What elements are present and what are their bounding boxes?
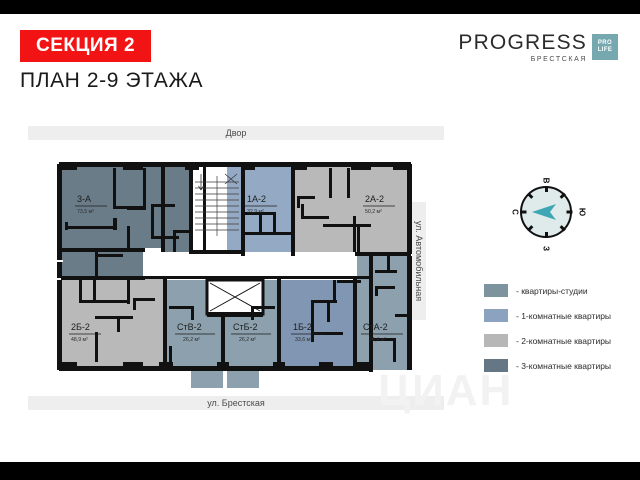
compass-needle-icon <box>520 186 572 238</box>
unit-area-2b2: 48,9 м² <box>71 337 88 343</box>
legend-label: - квартиры-студии <box>516 286 588 296</box>
balcony-stv2 <box>191 370 223 388</box>
floor-plan-svg: 3-А 73,5 м² 1А-2 32,9 м² 2А-2 50,2 м² 2Б… <box>55 160 415 392</box>
unit-fill-2a2 <box>295 166 409 252</box>
legend-item-studio: - квартиры-студии <box>484 284 634 297</box>
unit-area-sta2: 24,4 м² <box>369 337 386 343</box>
unit-fill-sta2 <box>357 256 409 370</box>
page-title: ПЛАН 2-9 ЭТАЖА <box>20 70 203 91</box>
street-label-brestskaya: ул. Брестская <box>28 396 444 410</box>
unit-area-stv2: 26,2 м² <box>183 337 200 343</box>
logo-wordmark: PROGRESS <box>458 32 587 53</box>
legend: - квартиры-студии - 1-комнатные квартиры… <box>484 284 634 384</box>
unit-label-3a: 3-А <box>77 194 91 204</box>
section-badge: СЕКЦИЯ 2 <box>20 30 151 62</box>
unit-label-sta2: СтА-2 <box>363 322 388 332</box>
pro-life-badge-line2: LIFE <box>598 47 613 54</box>
unit-label-1b2: 1Б-2 <box>293 322 312 332</box>
logo-text: PROGRESS БРЕСТСКАЯ <box>458 32 587 63</box>
unit-area-1a2: 32,9 м² <box>247 209 264 215</box>
legend-label: - 3-комнатные квартиры <box>516 361 611 371</box>
compass-label-north: В <box>542 178 551 184</box>
brand-logo: PROGRESS БРЕСТСКАЯ PRO LIFE <box>458 32 618 63</box>
balcony-stb2 <box>227 370 259 388</box>
unit-label-2b2: 2Б-2 <box>71 322 90 332</box>
street-label-avtomobilnaya-text: ул. Автомобильная <box>414 221 424 301</box>
legend-swatch <box>484 359 508 372</box>
compass-label-east: Ю <box>578 208 587 216</box>
legend-label: - 2-комнатные квартиры <box>516 336 611 346</box>
pro-life-badge-line1: PRO <box>598 40 612 47</box>
elevator-shaft <box>207 280 263 317</box>
legend-label: - 1-комнатные квартиры <box>516 311 611 321</box>
legend-swatch <box>484 334 508 347</box>
logo-subtitle: БРЕСТСКАЯ <box>531 56 587 63</box>
unit-area-3a: 73,5 м² <box>77 209 94 215</box>
floor-plan-drawing: 3-А 73,5 м² 1А-2 32,9 м² 2А-2 50,2 м² 2Б… <box>55 160 415 392</box>
corridor <box>143 252 369 278</box>
unit-label-stv2: СтВ-2 <box>177 322 202 332</box>
legend-swatch <box>484 309 508 322</box>
unit-area-2a2: 50,2 м² <box>365 209 382 215</box>
pro-life-badge: PRO LIFE <box>592 34 618 60</box>
unit-area-stb2: 26,2 м² <box>239 337 256 343</box>
legend-item-one-room: - 1-комнатные квартиры <box>484 309 634 322</box>
compass-rose: В Ю З С <box>520 186 572 238</box>
unit-label-2a2: 2А-2 <box>365 194 384 204</box>
floorplan-sheet: СЕКЦИЯ 2 ПЛАН 2-9 ЭТАЖА PROGRESS БРЕСТСК… <box>0 14 640 462</box>
legend-item-two-room: - 2-комнатные квартиры <box>484 334 634 347</box>
unit-area-1b2: 33,6 м² <box>295 337 312 343</box>
unit-label-1a2: 1А-2 <box>247 194 266 204</box>
compass-label-south: З <box>542 246 551 251</box>
unit-label-stb2: СтБ-2 <box>233 322 258 332</box>
legend-item-three-room: - 3-комнатные квартиры <box>484 359 634 372</box>
screenshot-stage: СЕКЦИЯ 2 ПЛАН 2-9 ЭТАЖА PROGRESS БРЕСТСК… <box>0 0 640 480</box>
street-label-courtyard: Двор <box>28 126 444 140</box>
compass-label-west: С <box>510 209 519 215</box>
legend-swatch <box>484 284 508 297</box>
